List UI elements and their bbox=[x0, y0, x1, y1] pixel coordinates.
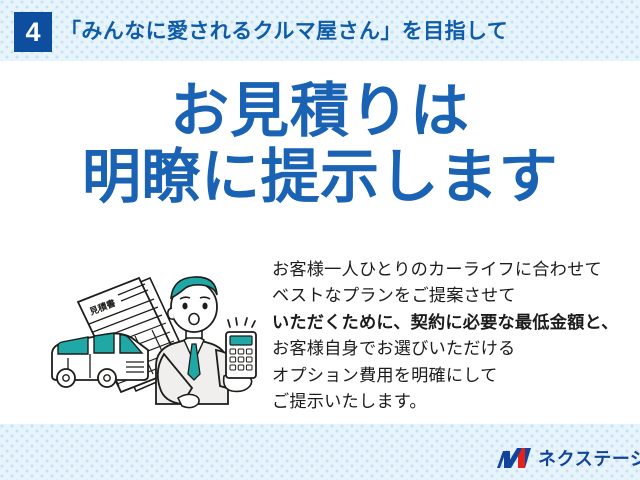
header-step-badge: 4 bbox=[14, 12, 52, 52]
brand-wordmark: ネクステージ bbox=[538, 448, 640, 470]
body-copy-line: いただくために、契約に必要な最低金額と、 bbox=[272, 309, 622, 335]
body-copy-line: お客様一人ひとりのカーライフに合わせて bbox=[272, 256, 622, 282]
header-title: 「みんなに愛されるクルマ屋さん」を目指して bbox=[60, 17, 508, 47]
nextage-n-logo-icon bbox=[497, 448, 531, 470]
headline: お見積りは 明瞭に提示します bbox=[0, 78, 640, 210]
promo-banner: 4 「みんなに愛されるクルマ屋さん」を目指して お見積りは 明瞭に提示します お… bbox=[0, 0, 640, 480]
illustration-salesman-calculator-van: 見積書 bbox=[44, 258, 272, 422]
body-copy-line: オプション費用を明確にして bbox=[272, 362, 622, 388]
headline-line-2: 明瞭に提示します bbox=[0, 144, 640, 210]
brand-logo: ネクステージ bbox=[497, 446, 640, 472]
headline-line-1: お見積りは bbox=[0, 78, 640, 144]
body-copy-line: ご提示いたします。 bbox=[272, 388, 622, 414]
body-copy-line: ベストなプランをご提案させて bbox=[272, 282, 622, 308]
body-copy: お客様一人ひとりのカーライフに合わせて ベストなプランをご提案させて いただくた… bbox=[272, 256, 622, 414]
calculator-icon bbox=[226, 318, 256, 378]
van-illustration bbox=[52, 333, 148, 387]
body-copy-line: お客様自身でお選びいただける bbox=[272, 335, 622, 361]
